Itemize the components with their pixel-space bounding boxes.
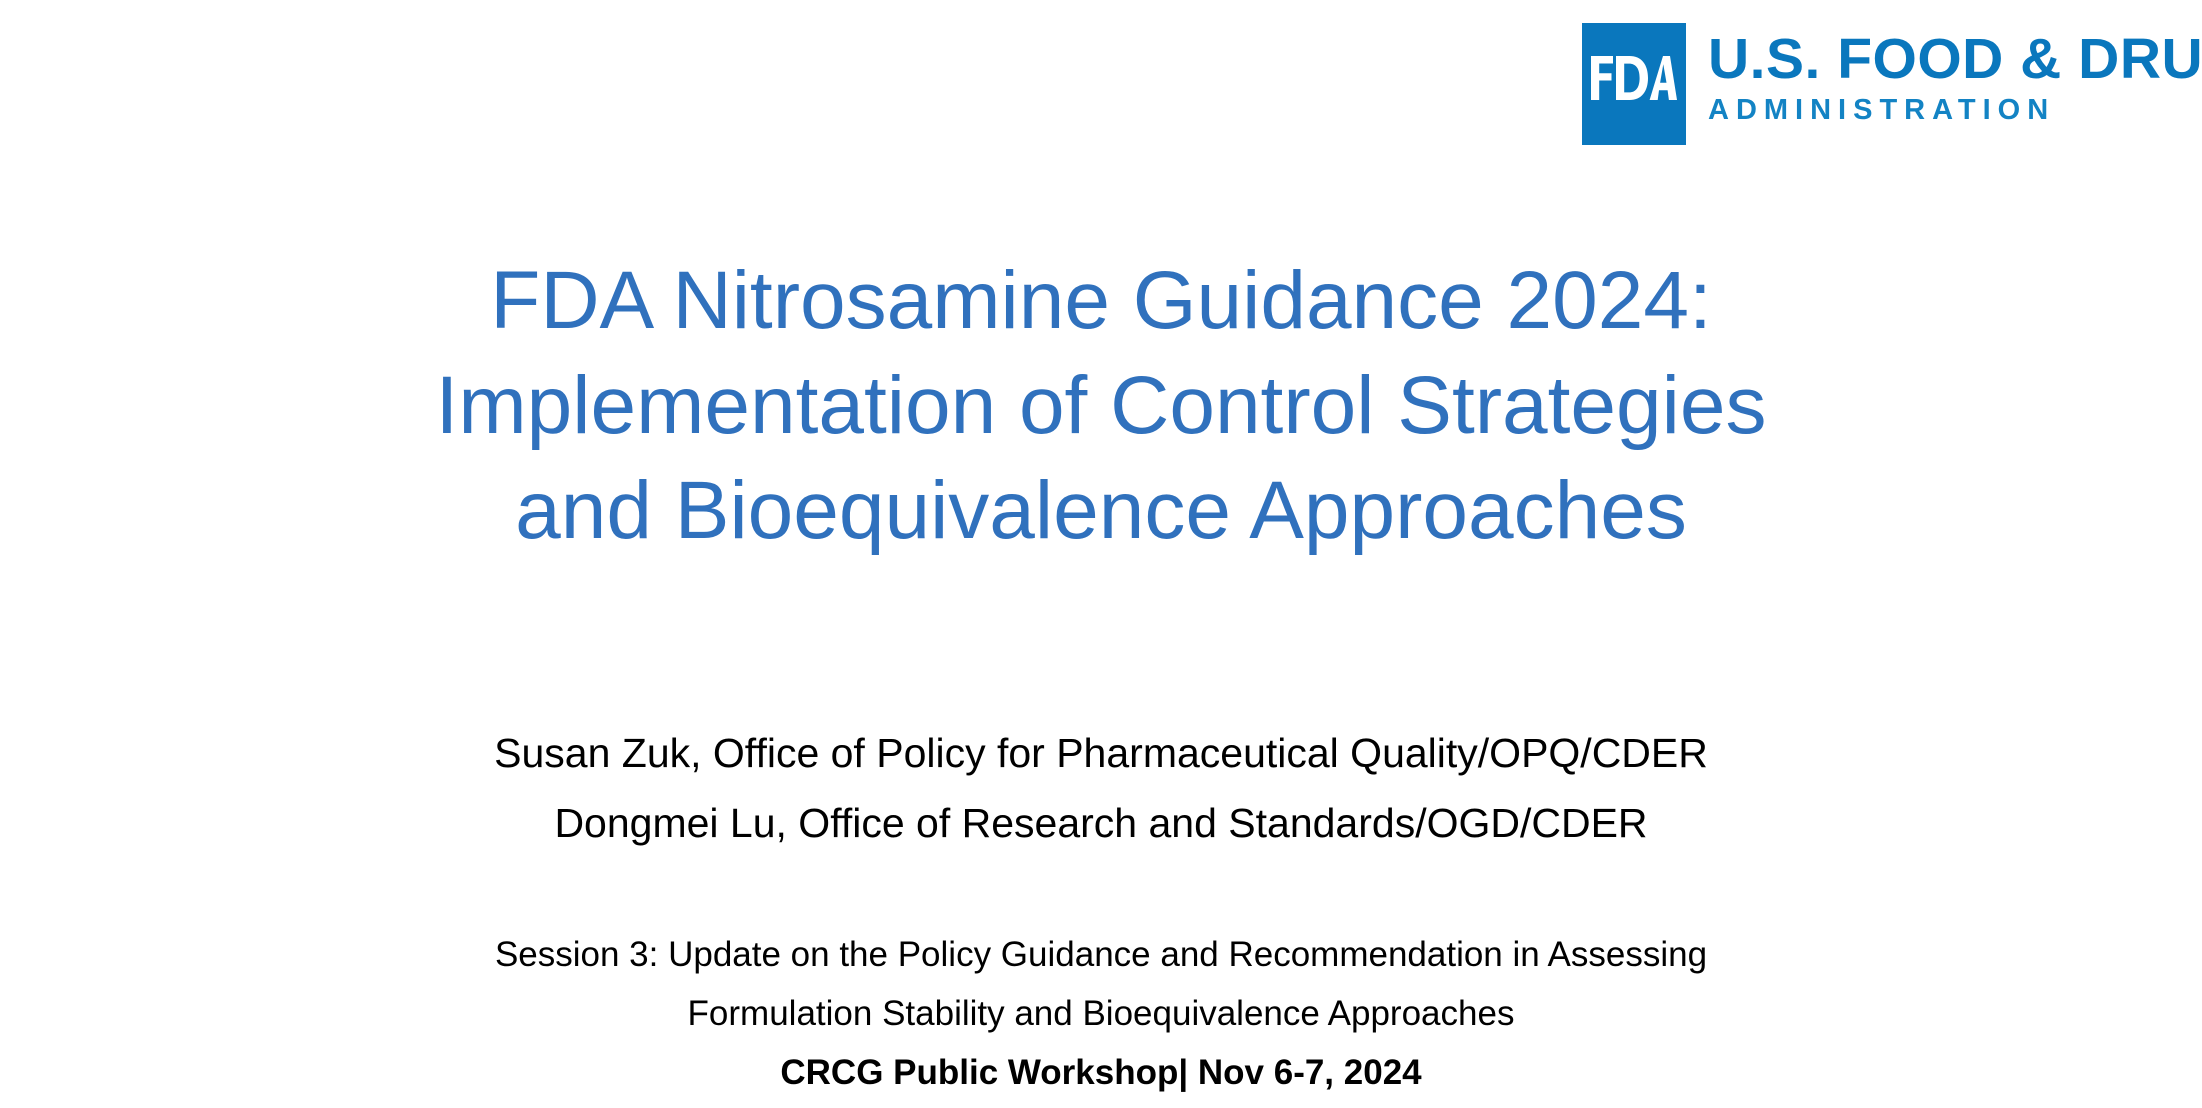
presentation-title-slide: U.S. FOOD & DRUG ADMINISTRATION FDA Nitr… — [0, 0, 2202, 1108]
fda-logo: U.S. FOOD & DRUG ADMINISTRATION — [1582, 23, 2196, 148]
session-line-2: Formulation Stability and Bioequivalence… — [0, 984, 2202, 1043]
event-line: CRCG Public Workshop| Nov 6-7, 2024 — [0, 1043, 2202, 1102]
presenter-list: Susan Zuk, Office of Policy for Pharmace… — [0, 718, 2202, 858]
presenter-line-2: Dongmei Lu, Office of Research and Stand… — [0, 788, 2202, 858]
title-line-3: and Bioequivalence Approaches — [0, 458, 2202, 563]
fda-logo-mark — [1582, 23, 1686, 145]
title-line-2: Implementation of Control Strategies — [0, 353, 2202, 458]
title-line-1: FDA Nitrosamine Guidance 2024: — [0, 248, 2202, 353]
presenter-line-1: Susan Zuk, Office of Policy for Pharmace… — [0, 718, 2202, 788]
fda-wordmark: U.S. FOOD & DRUG ADMINISTRATION — [1686, 23, 2202, 127]
session-line-1: Session 3: Update on the Policy Guidance… — [0, 925, 2202, 984]
fda-monogram-icon — [1591, 56, 1677, 100]
page-title: FDA Nitrosamine Guidance 2024: Implement… — [0, 248, 2202, 563]
session-info: Session 3: Update on the Policy Guidance… — [0, 925, 2202, 1102]
fda-wordmark-line1: U.S. FOOD & DRUG — [1708, 29, 2202, 89]
fda-wordmark-line2: ADMINISTRATION — [1708, 93, 2055, 127]
